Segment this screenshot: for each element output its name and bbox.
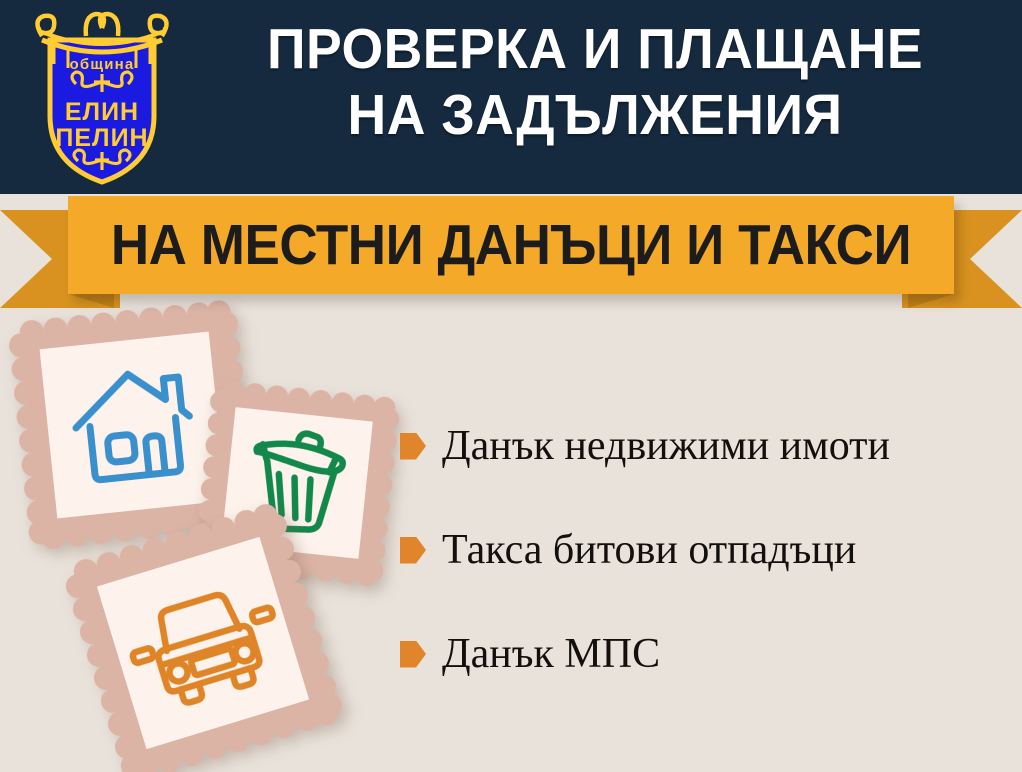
svg-text:ПЕЛИН: ПЕЛИН — [55, 124, 148, 152]
arrow-bullet-icon — [400, 537, 426, 564]
list-item[interactable]: Данък МПС — [400, 628, 1010, 680]
page-title-line-1: ПРОВЕРКА И ПЛАЩАНЕ — [205, 16, 985, 82]
arrow-bullet-icon — [400, 641, 426, 668]
svg-text:община: община — [70, 56, 135, 73]
arrow-bullet-icon — [400, 433, 426, 460]
ribbon-banner: НА МЕСТНИ ДАНЪЦИ И ТАКСИ — [0, 196, 1022, 308]
list-item[interactable]: Такса битови отпадъци — [400, 524, 1010, 576]
stamp-card-group — [0, 300, 420, 772]
poster-canvas: ПРОВЕРКА И ПЛАЩАНЕ НА ЗАДЪЛЖЕНИЯ община — [0, 0, 1022, 772]
list-item[interactable]: Данък недвижими имоти — [400, 420, 1010, 472]
municipality-logo: община ЕЛИН ПЕЛИН — [22, 6, 182, 188]
page-title-line-2: НА ЗАДЪЛЖЕНИЯ — [205, 82, 985, 148]
svg-text:ЕЛИН: ЕЛИН — [65, 98, 139, 126]
page-title: ПРОВЕРКА И ПЛАЩАНЕ НА ЗАДЪЛЖЕНИЯ — [205, 16, 985, 148]
ribbon-label: НА МЕСТНИ ДАНЪЦИ И ТАКСИ — [99, 196, 923, 294]
list-item-label: Такса битови отпадъци — [442, 524, 856, 576]
list-item-label: Данък недвижими имоти — [442, 420, 890, 472]
tax-type-list: Данък недвижими имоти Такса битови отпад… — [400, 420, 1010, 732]
list-item-label: Данък МПС — [442, 628, 660, 680]
